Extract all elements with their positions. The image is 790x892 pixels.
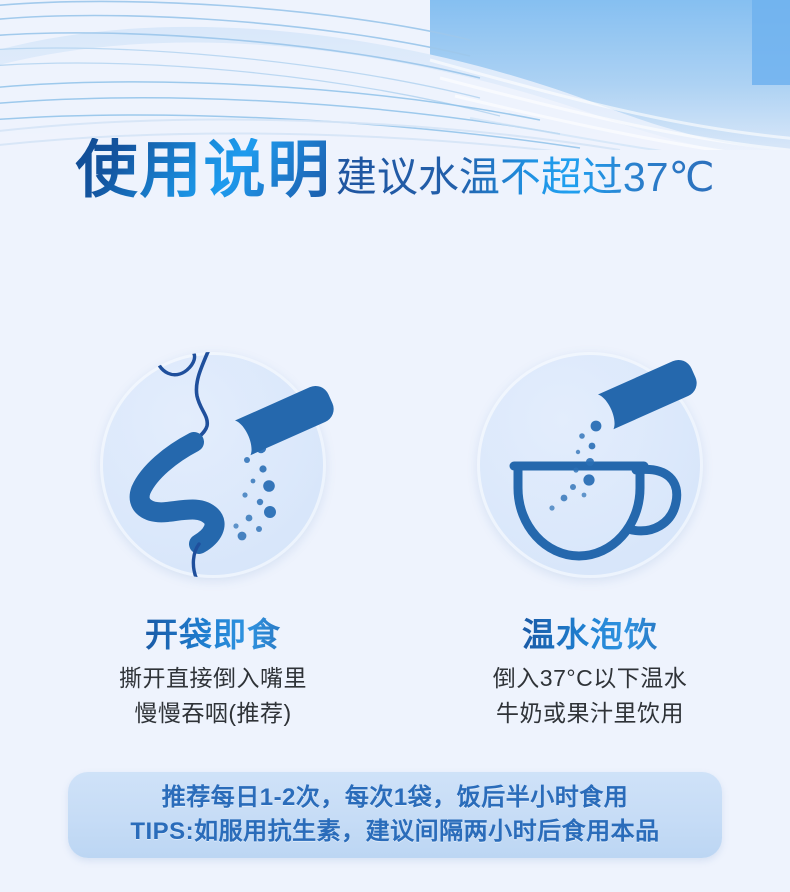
tip-line-dosage: 推荐每日1-2次，每次1袋，饭后半小时食用 <box>162 781 629 815</box>
teacup-pour-icon <box>440 330 740 600</box>
sachet-stick-icon <box>598 355 701 429</box>
page-subtitle: 建议水温不超过37℃ <box>336 155 715 200</box>
icon-circle-holder <box>440 352 740 592</box>
header-wave-decoration <box>0 0 790 150</box>
sachet-stick-icon <box>235 381 338 455</box>
face-profile-pour-icon <box>63 330 363 600</box>
tip-line-antibiotics: TIPS:如服用抗生素，建议间隔两小时后食用本品 <box>130 815 659 849</box>
icon-circle-holder <box>63 352 363 592</box>
caption-title: 开袋即食 <box>145 616 281 654</box>
usage-instructions-page: 使用说明 建议水温不超过37℃ <box>0 0 790 892</box>
page-title: 使用说明 <box>75 138 331 203</box>
caption-line-1: 撕开直接倒入嘴里 <box>63 662 363 695</box>
step-dissolve-in-water <box>440 352 740 592</box>
caption-title: 温水泡饮 <box>522 616 658 654</box>
caption-line-2: 慢慢吞咽(推荐) <box>63 697 363 730</box>
caption-dissolve-in-water: 温水泡饮 倒入37°C以下温水 牛奶或果汁里饮用 <box>440 616 740 729</box>
wave-svg <box>0 0 790 150</box>
caption-line-2: 牛奶或果汁里饮用 <box>440 697 740 730</box>
steps-icon-row <box>0 352 790 652</box>
caption-eat-directly: 开袋即食 撕开直接倒入嘴里 慢慢吞咽(推荐) <box>63 616 363 729</box>
dosage-tip-box: 推荐每日1-2次，每次1袋，饭后半小时食用 TIPS:如服用抗生素，建议间隔两小… <box>68 772 722 858</box>
title-block: 使用说明 建议水温不超过37℃ <box>0 138 790 203</box>
step-eat-directly <box>63 352 363 592</box>
caption-line-1: 倒入37°C以下温水 <box>440 662 740 695</box>
